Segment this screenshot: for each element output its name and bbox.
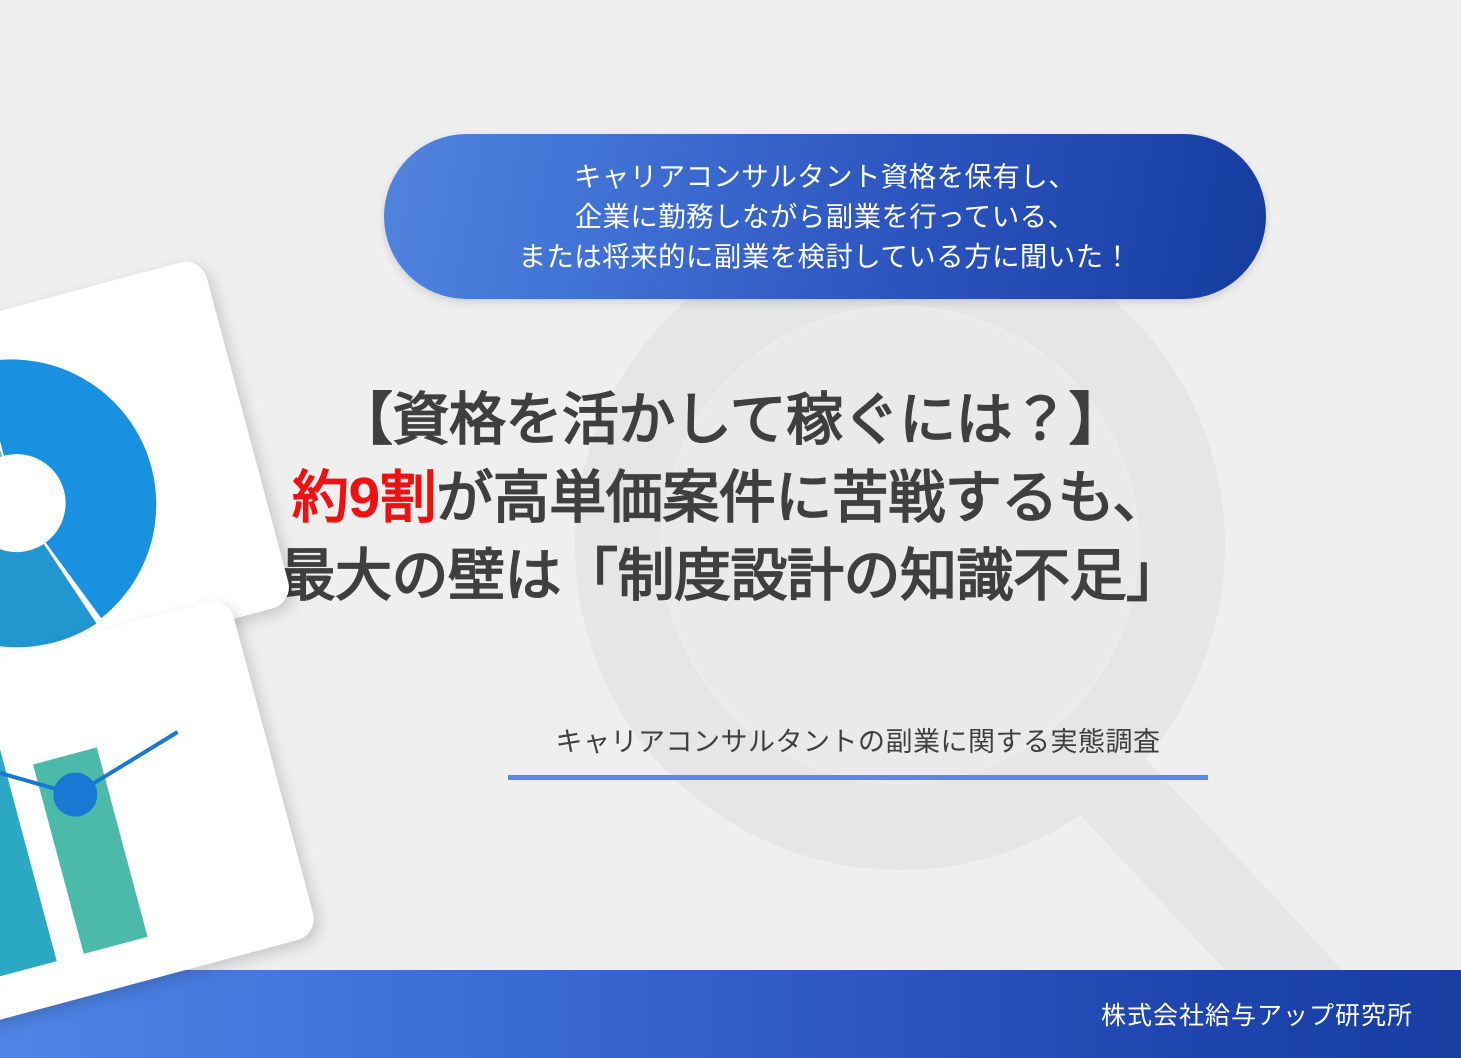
- survey-target-banner: キャリアコンサルタント資格を保有し、 企業に勤務しながら副業を行っている、 また…: [384, 134, 1266, 299]
- banner-line-3: または将来的に副業を検討している方に聞いた！: [519, 237, 1132, 277]
- bar-line-chart-icon: [0, 596, 319, 1033]
- banner-line-2: 企業に勤務しながら副業を行っている、: [575, 197, 1076, 237]
- decorative-bar-card: [0, 596, 319, 1033]
- headline-highlight: 約9割: [292, 466, 436, 530]
- company-name: 株式会社給与アップ研究所: [1101, 996, 1413, 1032]
- survey-subtitle: キャリアコンサルタントの副業に関する実態調査: [508, 722, 1208, 762]
- survey-subtitle-wrapper: キャリアコンサルタントの副業に関する実態調査: [508, 722, 1208, 762]
- company-footer-bar: 株式会社給与アップ研究所: [0, 970, 1461, 1058]
- banner-line-1: キャリアコンサルタント資格を保有し、: [574, 157, 1076, 197]
- press-release-slide: キャリアコンサルタント資格を保有し、 企業に勤務しながら副業を行っている、 また…: [0, 0, 1461, 1058]
- headline-line-2-rest: が高単価案件に苦戦するも、: [436, 466, 1169, 530]
- subtitle-underline: [508, 775, 1208, 780]
